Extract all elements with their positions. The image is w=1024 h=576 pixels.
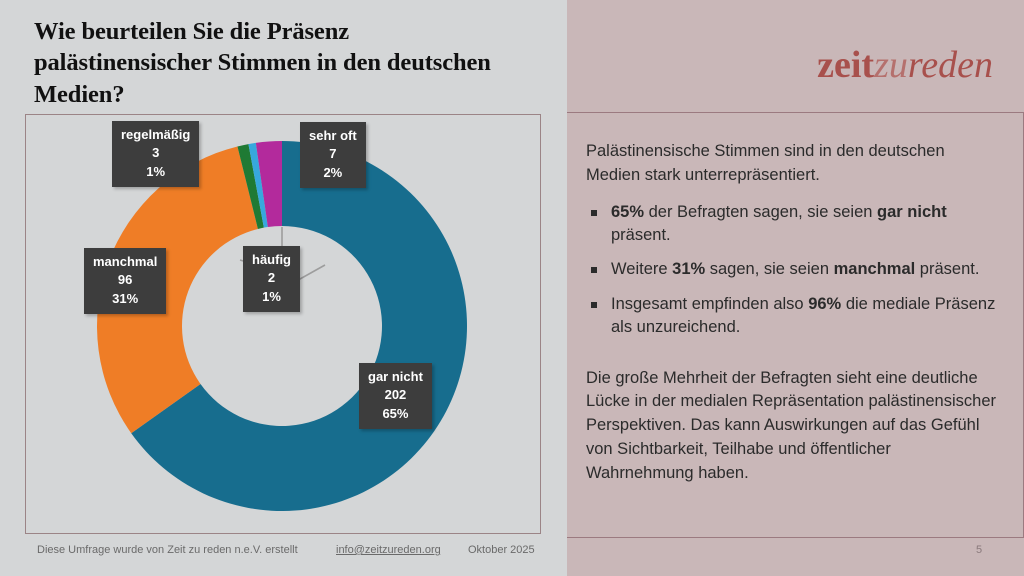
bullet-emphasis: 96% — [808, 295, 841, 313]
data-label-percent: 31% — [93, 290, 157, 308]
page-title: Wie beurteilen Sie die Präsenz palästine… — [34, 16, 504, 110]
data-label-value: 7 — [309, 145, 357, 163]
data-label-name: gar nicht — [368, 368, 423, 386]
bullet-emphasis: manchmal — [834, 260, 916, 278]
slide-footer: Diese Umfrage wurde von Zeit zu reden n.… — [0, 540, 1024, 570]
donut-slices — [97, 141, 467, 511]
footer-credit: Diese Umfrage wurde von Zeit zu reden n.… — [37, 544, 298, 556]
data-label-value: 3 — [121, 144, 190, 162]
bullet-text: Weitere — [611, 260, 672, 278]
bullet-emphasis: 65% — [611, 203, 644, 221]
bullet-text: präsent. — [611, 226, 671, 244]
data-label-manchmal: manchmal 96 31% — [84, 248, 166, 314]
commentary-bullet-list: 65% der Befragten sagen, sie seien gar n… — [586, 201, 998, 340]
data-label-gar-nicht: gar nicht 202 65% — [359, 363, 432, 429]
data-label-percent: 1% — [252, 288, 291, 306]
logo-part-zu: zu — [874, 44, 908, 86]
data-label-regelmaessig: regelmäßig 3 1% — [112, 121, 199, 187]
brand-logo: zeitzureden — [817, 46, 993, 84]
commentary-bullet: Insgesamt empfinden also 96% die mediale… — [586, 293, 998, 340]
footer-email-link[interactable]: info@zeitzureden.org — [336, 544, 441, 556]
data-label-percent: 1% — [121, 163, 190, 181]
bullet-text: sagen, sie seien — [705, 260, 833, 278]
bullet-square-icon — [591, 302, 597, 308]
commentary-lead: Palästinensische Stimmen sind in den deu… — [586, 140, 998, 188]
data-label-value: 96 — [93, 271, 157, 289]
data-label-name: sehr oft — [309, 127, 357, 145]
commentary-bullet: 65% der Befragten sagen, sie seien gar n… — [586, 201, 998, 248]
data-label-value: 202 — [368, 386, 423, 404]
data-label-value: 2 — [252, 269, 291, 287]
logo-part-zeit: zeit — [817, 44, 874, 86]
bullet-text: der Befragten sagen, sie seien — [644, 203, 877, 221]
data-label-percent: 2% — [309, 164, 357, 182]
bullet-square-icon — [591, 210, 597, 216]
data-label-sehr-oft: sehr oft 7 2% — [300, 122, 366, 188]
data-label-haeufig: häufig 2 1% — [243, 246, 300, 312]
logo-part-reden: reden — [908, 44, 993, 86]
bullet-text: präsent. — [915, 260, 979, 278]
slide-canvas: Wie beurteilen Sie die Präsenz palästine… — [0, 0, 1024, 576]
data-label-name: manchmal — [93, 253, 157, 271]
data-label-name: häufig — [252, 251, 291, 269]
footer-date: Oktober 2025 — [468, 544, 535, 556]
donut-chart — [25, 114, 541, 534]
donut-chart-svg — [25, 114, 541, 534]
bullet-text: Insgesamt empfinden also — [611, 295, 808, 313]
commentary-bullet: Weitere 31% sagen, sie seien manchmal pr… — [586, 258, 998, 281]
bullet-square-icon — [591, 267, 597, 273]
bullet-emphasis: gar nicht — [877, 203, 947, 221]
commentary-panel: Palästinensische Stimmen sind in den deu… — [567, 112, 1024, 538]
data-label-name: regelmäßig — [121, 126, 190, 144]
commentary-tail: Die große Mehrheit der Befragten sieht e… — [586, 367, 998, 486]
footer-page-number: 5 — [976, 544, 982, 556]
data-label-percent: 65% — [368, 405, 423, 423]
bullet-emphasis: 31% — [672, 260, 705, 278]
